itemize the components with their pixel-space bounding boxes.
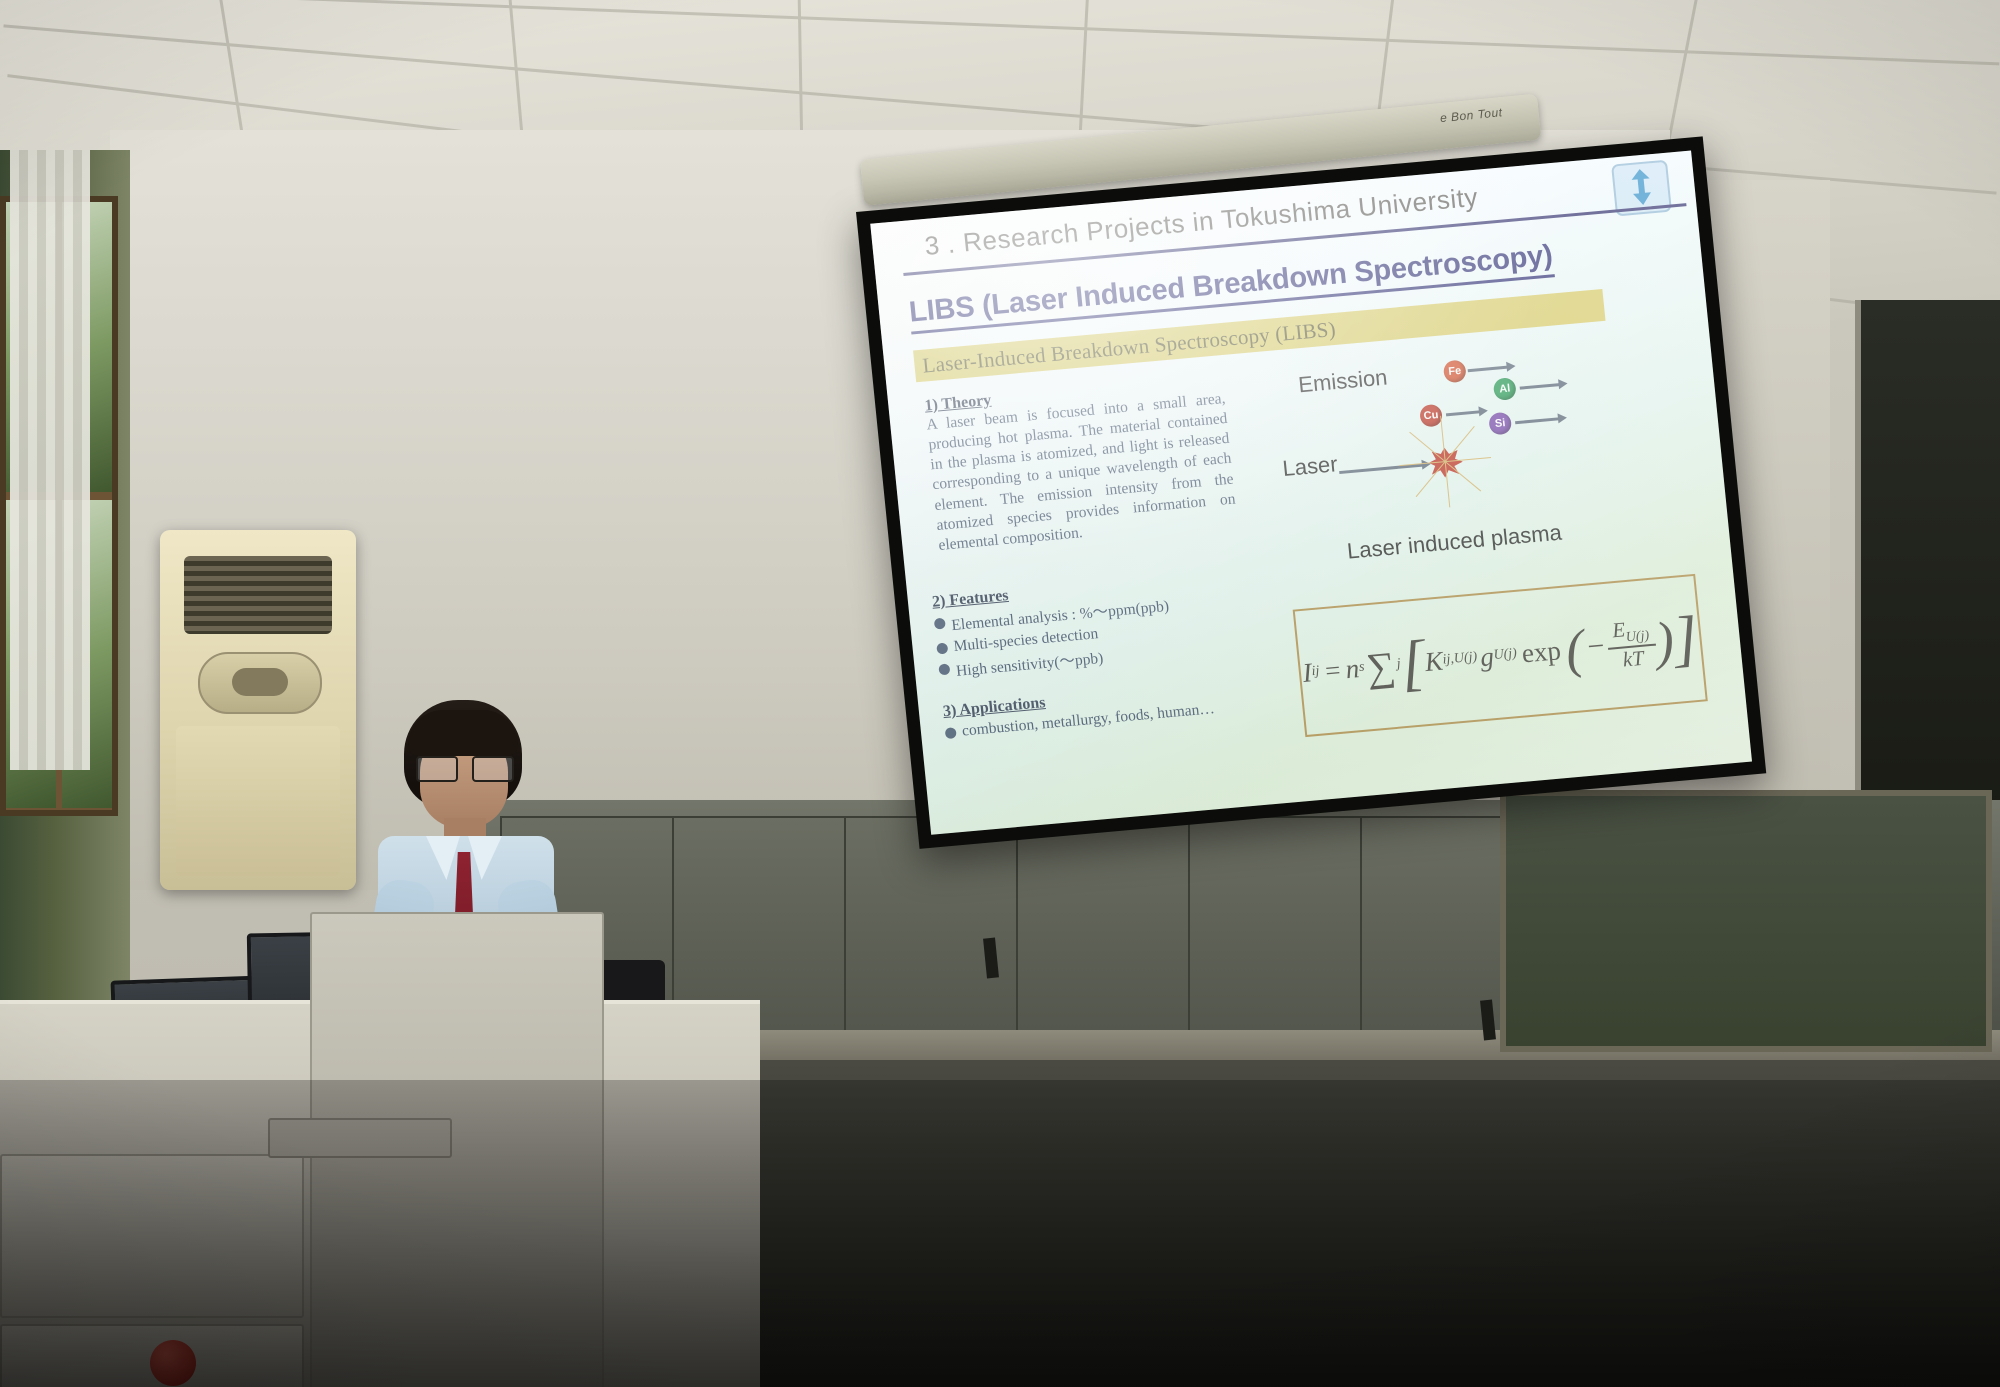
ac-lower-body bbox=[176, 726, 340, 876]
bullet-dot-icon bbox=[945, 727, 957, 739]
equation-box: Iij = ns ∑j [ Kij,U(j) gU(j) exp ( − EU(… bbox=[1293, 574, 1708, 737]
presentation-slide: 3 . Research Projects in Tokushima Unive… bbox=[870, 151, 1752, 835]
emission-arrow-icon bbox=[1520, 383, 1560, 390]
diagram-label-laser: Laser bbox=[1281, 451, 1338, 482]
atom-fe-icon: Fe bbox=[1443, 359, 1467, 383]
section-features: 2) Features Elemental analysis : %～ppm(p… bbox=[931, 564, 1269, 682]
bullet-dot-icon bbox=[934, 618, 946, 630]
keyboard[interactable] bbox=[268, 1118, 452, 1158]
hair-fringe bbox=[408, 710, 518, 756]
housing-brand-label: e Bon Tout bbox=[1439, 105, 1503, 125]
air-conditioner bbox=[160, 530, 356, 890]
bullet-dot-icon bbox=[936, 643, 948, 655]
atom-al-icon: Al bbox=[1493, 377, 1517, 401]
blackboard bbox=[1500, 790, 1992, 1052]
diagram-label-plasma: Laser induced plasma bbox=[1346, 520, 1563, 565]
ac-control-panel[interactable] bbox=[198, 652, 322, 714]
atom-si-icon: Si bbox=[1488, 412, 1512, 436]
section-theory-body: A laser beam is focused into a small are… bbox=[926, 389, 1239, 556]
equation-formula: Iij = ns ∑j [ Kij,U(j) gU(j) exp ( − EU(… bbox=[1295, 576, 1706, 735]
bullet-dot-icon bbox=[938, 663, 950, 675]
emission-arrow-icon bbox=[1515, 417, 1559, 424]
podium bbox=[0, 1000, 760, 1387]
plasma-ray-icon bbox=[1445, 461, 1481, 491]
cabinet-door[interactable] bbox=[1188, 816, 1362, 1040]
plasma-ray-icon bbox=[1445, 426, 1475, 462]
red-knob-icon[interactable] bbox=[150, 1340, 196, 1386]
cabinet-door[interactable] bbox=[844, 816, 1018, 1040]
emission-arrow-icon bbox=[1468, 366, 1508, 373]
projection-screen: 3 . Research Projects in Tokushima Unive… bbox=[856, 136, 1766, 848]
ac-vent-grille bbox=[184, 556, 332, 634]
libs-diagram: Emission Laser Laser induced plasma Fe A… bbox=[1267, 331, 1718, 598]
podium-panel bbox=[0, 1154, 304, 1318]
section-applications: 3) Applications combustion, metallurgy, … bbox=[942, 671, 1304, 742]
window-curtain bbox=[10, 150, 90, 770]
emission-arrow-icon bbox=[1446, 410, 1480, 416]
plasma-ray-icon bbox=[1409, 432, 1445, 462]
photo-scene: e Bon Tout 3 . Research Projects in Toku… bbox=[0, 0, 2000, 1387]
diagram-label-emission: Emission bbox=[1297, 364, 1388, 398]
cabinet-door[interactable] bbox=[1016, 816, 1190, 1040]
glasses-icon bbox=[416, 756, 512, 778]
